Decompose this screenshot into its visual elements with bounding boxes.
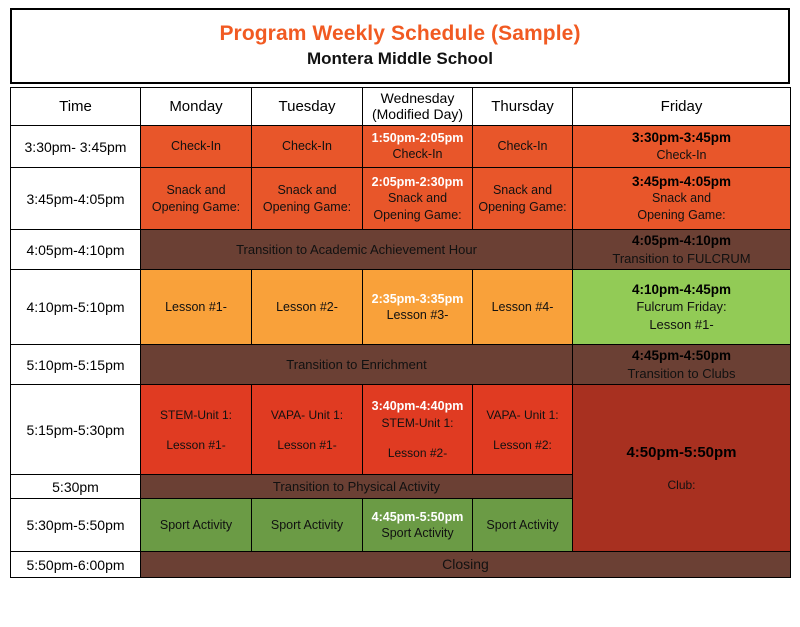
cell-monday-lesson: Lesson #1- [141, 270, 252, 345]
cell-text: Check-In [366, 146, 469, 163]
schedule-page: Program Weekly Schedule (Sample) Montera… [0, 0, 800, 627]
cell-text: VAPA- Unit 1: [476, 407, 569, 423]
cell-text: Sport Activity [255, 517, 359, 534]
weekly-schedule-table: Time Monday Tuesday Wednesday (Modified … [10, 87, 791, 578]
row-time-snack: 3:45pm-4:05pm [11, 168, 141, 230]
cell-text: Lesson #1- [144, 299, 248, 316]
table-row: 3:45pm-4:05pm Snack and Opening Game: Sn… [11, 168, 791, 230]
cell-text: Lesson #1- [144, 437, 248, 453]
page-subtitle: Montera Middle School [307, 48, 493, 69]
cell-text: Transition to Physical Activity [144, 478, 569, 496]
cell-time-label: 4:50pm-5:50pm [576, 443, 787, 463]
cell-time-label: 3:40pm-4:40pm [366, 398, 469, 414]
cell-wednesday-enrichment: 3:40pm-4:40pm STEM-Unit 1: Lesson #2- [363, 385, 473, 475]
cell-text: Lesson #4- [476, 299, 569, 316]
cell-text: Opening Game: [366, 207, 469, 224]
cell-transition-enrichment: Transition to Enrichment [141, 345, 573, 385]
cell-thursday-lesson: Lesson #4- [473, 270, 573, 345]
cell-tuesday-lesson: Lesson #2- [252, 270, 363, 345]
cell-time-label: 1:50pm-2:05pm [366, 130, 469, 146]
cell-text: Opening Game: [576, 207, 787, 224]
cell-tuesday-snack: Snack and Opening Game: [252, 168, 363, 230]
cell-time-label: 4:10pm-4:45pm [576, 281, 787, 299]
cell-thursday-enrichment: VAPA- Unit 1: Lesson #2: [473, 385, 573, 475]
cell-time-label: 2:05pm-2:30pm [366, 174, 469, 190]
cell-transition-physical: Transition to Physical Activity [141, 475, 573, 499]
row-time-transition-enrichment: 5:10pm-5:15pm [11, 345, 141, 385]
cell-text: Check-In [255, 138, 359, 155]
column-header-tuesday: Tuesday [252, 88, 363, 126]
column-header-friday: Friday [573, 88, 791, 126]
cell-wednesday-snack: 2:05pm-2:30pm Snack and Opening Game: [363, 168, 473, 230]
cell-text: Lesson #2: [476, 437, 569, 453]
cell-thursday-checkin: Check-In [473, 126, 573, 168]
cell-monday-checkin: Check-In [141, 126, 252, 168]
cell-text: Snack and [476, 182, 569, 199]
cell-tuesday-enrichment: VAPA- Unit 1: Lesson #1- [252, 385, 363, 475]
cell-text: Snack and [366, 190, 469, 207]
cell-text: Club: [576, 477, 787, 493]
cell-text: Lesson #3- [366, 307, 469, 324]
cell-time-label: 4:05pm-4:10pm [576, 232, 787, 250]
cell-text: Opening Game: [144, 199, 248, 216]
row-time-transition-academic: 4:05pm-4:10pm [11, 230, 141, 270]
cell-text: Sport Activity [144, 517, 248, 534]
column-header-thursday: Thursday [473, 88, 573, 126]
cell-text: Opening Game: [476, 199, 569, 216]
cell-text: Sport Activity [366, 525, 469, 542]
cell-text: Lesson #1- [255, 437, 359, 453]
column-header-wednesday-label: Wednesday [381, 90, 455, 106]
cell-text: VAPA- Unit 1: [255, 407, 359, 423]
cell-thursday-sport: Sport Activity [473, 499, 573, 552]
table-row: 5:10pm-5:15pm Transition to Enrichment 4… [11, 345, 791, 385]
cell-text: Closing [144, 555, 787, 574]
cell-wednesday-checkin: 1:50pm-2:05pm Check-In [363, 126, 473, 168]
cell-monday-sport: Sport Activity [141, 499, 252, 552]
row-time-transition-physical: 5:30pm [11, 475, 141, 499]
column-header-monday: Monday [141, 88, 252, 126]
table-header-row: Time Monday Tuesday Wednesday (Modified … [11, 88, 791, 126]
table-row: 4:05pm-4:10pm Transition to Academic Ach… [11, 230, 791, 270]
cell-time-label: 3:45pm-4:05pm [576, 173, 787, 191]
cell-friday-fulcrum: 4:10pm-4:45pm Fulcrum Friday: Lesson #1- [573, 270, 791, 345]
cell-spacer [255, 423, 359, 437]
cell-text: Check-In [576, 147, 787, 164]
cell-time-label: 4:45pm-5:50pm [366, 509, 469, 525]
cell-friday-transition-fulcrum: 4:05pm-4:10pm Transition to FULCRUM [573, 230, 791, 270]
row-time-enrichment: 5:15pm-5:30pm [11, 385, 141, 475]
cell-monday-enrichment: STEM-Unit 1: Lesson #1- [141, 385, 252, 475]
page-title: Program Weekly Schedule (Sample) [219, 22, 580, 46]
cell-time-label: 2:35pm-3:35pm [366, 291, 469, 307]
cell-thursday-snack: Snack and Opening Game: [473, 168, 573, 230]
cell-text: Fulcrum Friday: [576, 298, 787, 316]
table-row: 5:50pm-6:00pm Closing [11, 552, 791, 578]
table-row: 3:30pm- 3:45pm Check-In Check-In 1:50pm-… [11, 126, 791, 168]
cell-text: Transition to Academic Achievement Hour [144, 241, 569, 259]
cell-time-label: 4:45pm-4:50pm [576, 347, 787, 365]
cell-text: Check-In [476, 138, 569, 155]
row-time-closing: 5:50pm-6:00pm [11, 552, 141, 578]
cell-friday-snack: 3:45pm-4:05pm Snack and Opening Game: [573, 168, 791, 230]
cell-time-label: 3:30pm-3:45pm [576, 129, 787, 147]
cell-transition-academic: Transition to Academic Achievement Hour [141, 230, 573, 270]
cell-text: Lesson #2- [255, 299, 359, 316]
cell-text: Transition to Enrichment [144, 356, 569, 374]
cell-spacer [366, 431, 469, 445]
title-block: Program Weekly Schedule (Sample) Montera… [10, 8, 790, 84]
cell-monday-snack: Snack and Opening Game: [141, 168, 252, 230]
cell-text: Snack and [144, 182, 248, 199]
column-header-wednesday-sublabel: (Modified Day) [372, 106, 463, 122]
column-header-time: Time [11, 88, 141, 126]
row-time-sport: 5:30pm-5:50pm [11, 499, 141, 552]
cell-wednesday-sport: 4:45pm-5:50pm Sport Activity [363, 499, 473, 552]
cell-closing: Closing [141, 552, 791, 578]
cell-wednesday-lesson: 2:35pm-3:35pm Lesson #3- [363, 270, 473, 345]
cell-text: Transition to Clubs [576, 365, 787, 383]
table-row: 4:10pm-5:10pm Lesson #1- Lesson #2- 2:35… [11, 270, 791, 345]
cell-text: Snack and [255, 182, 359, 199]
cell-text: Lesson #2- [366, 445, 469, 461]
cell-text: STEM-Unit 1: [366, 415, 469, 431]
cell-text: STEM-Unit 1: [144, 407, 248, 423]
cell-text: Check-In [144, 138, 248, 155]
cell-friday-transition-clubs: 4:45pm-4:50pm Transition to Clubs [573, 345, 791, 385]
row-time-lesson: 4:10pm-5:10pm [11, 270, 141, 345]
cell-text: Snack and [576, 190, 787, 207]
cell-tuesday-checkin: Check-In [252, 126, 363, 168]
cell-tuesday-sport: Sport Activity [252, 499, 363, 552]
table-row: 5:15pm-5:30pm STEM-Unit 1: Lesson #1- VA… [11, 385, 791, 475]
cell-text: Sport Activity [476, 517, 569, 534]
cell-spacer [576, 463, 787, 477]
cell-text: Opening Game: [255, 199, 359, 216]
cell-spacer [476, 423, 569, 437]
column-header-wednesday: Wednesday (Modified Day) [363, 88, 473, 126]
cell-text: Transition to FULCRUM [576, 250, 787, 268]
cell-text: Lesson #1- [576, 316, 787, 334]
cell-friday-checkin: 3:30pm-3:45pm Check-In [573, 126, 791, 168]
cell-friday-club: 4:50pm-5:50pm Club: [573, 385, 791, 552]
cell-spacer [144, 423, 248, 437]
row-time-checkin: 3:30pm- 3:45pm [11, 126, 141, 168]
